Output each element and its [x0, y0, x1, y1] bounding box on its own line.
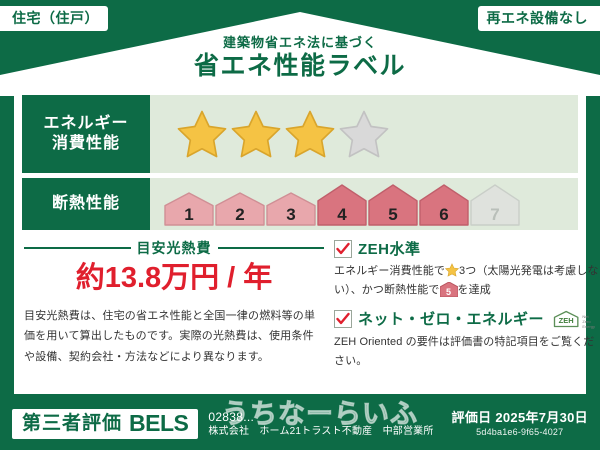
insulation-label-text: 断熱性能 — [52, 194, 120, 214]
zeh-logo: ZEH Net Zero Energy — [552, 308, 600, 330]
zeh-desc-part1: エネルギー消費性能で — [334, 265, 445, 277]
check-block-net-zero-energy: ネット・ゼロ・エネルギー ZEH Net Zero Energy ZEH Ori… — [334, 308, 600, 372]
energy-label-line2: 消費性能 — [52, 134, 120, 154]
zeh-desc-part3: を達成 — [458, 284, 491, 296]
footer-evaluation-date: 評価日 2025年7月30日 — [452, 410, 588, 427]
energy-performance-label: エネルギー 消費性能 — [22, 95, 150, 173]
page-title: 省エネ性能ラベル — [0, 54, 600, 79]
zeh-standard-description: エネルギー消費性能で3つ（太陽光発電は考慮しない）、かつ断熱性能で 5 を達成 — [334, 262, 600, 301]
energy-performance-row: エネルギー 消費性能 — [22, 88, 578, 173]
zeh-house-logo-icon: ZEH — [552, 308, 580, 330]
rule-left — [24, 247, 131, 249]
footer-document-id: 5d4ba1e6-9f65-4027 — [452, 427, 588, 439]
checkbox-net-zero-energy[interactable] — [334, 310, 352, 328]
certification-checks: ZEH水準 エネルギー消費性能で3つ（太陽光発電は考慮しない）、かつ断熱性能で … — [324, 238, 600, 378]
check-icon — [336, 242, 350, 256]
zeh-standard-header: ZEH水準 — [334, 238, 600, 259]
label-card: エネルギー 消費性能 断熱性能 1234567 目安光熱費 約13.8万円 / … — [14, 88, 586, 394]
net-zero-energy-header: ネット・ゼロ・エネルギー ZEH Net Zero Energy — [334, 308, 600, 330]
bels-jp-label: 第三者評価 — [22, 414, 122, 433]
footer-registration-number: 02838... — [208, 409, 433, 425]
star-filled-icon — [230, 109, 282, 159]
check-icon — [336, 312, 350, 326]
house-level-7: 7 — [470, 184, 520, 226]
footer-date-label: 評価日 — [452, 410, 492, 425]
star-rating — [176, 109, 390, 159]
utility-cost-heading-text: 目安光熱費 — [137, 238, 212, 258]
utility-cost-heading: 目安光熱費 — [24, 238, 324, 258]
badge-renewable-equipment: 再エネ設備なし — [478, 6, 600, 31]
house-level-6: 6 — [419, 184, 469, 226]
inline-house-badge: 5 — [440, 282, 458, 297]
zeh-logo-sub2: Zero Energy — [582, 319, 595, 329]
star-filled-icon — [176, 109, 228, 159]
house-level-number: 2 — [215, 206, 265, 223]
house-rating-scale: 1234567 — [164, 184, 520, 226]
house-level-number: 1 — [164, 206, 214, 223]
details-area: 目安光熱費 約13.8万円 / 年 目安光熱費は、住宅の省エネ性能と全国一律の燃… — [24, 238, 576, 378]
header-subtitle: 建築物省エネ法に基づく — [0, 36, 600, 49]
net-zero-energy-description: ZEH Oriented の要件は評価書の特記項目をご覧ください。 — [334, 333, 600, 372]
insulation-performance-label: 断熱性能 — [22, 178, 150, 230]
energy-label-line1: エネルギー — [43, 114, 128, 134]
utility-cost-section: 目安光熱費 約13.8万円 / 年 目安光熱費は、住宅の省エネ性能と全国一律の燃… — [24, 238, 324, 378]
star-filled-icon — [284, 109, 336, 159]
star-empty-icon — [338, 109, 390, 159]
net-zero-energy-title: ネット・ゼロ・エネルギー — [358, 308, 544, 329]
house-level-number: 7 — [470, 206, 520, 223]
zeh-standard-title: ZEH水準 — [358, 238, 421, 259]
zeh-logo-subtext: Net Zero Energy — [582, 314, 600, 330]
inline-house-level: 5 — [440, 288, 458, 297]
footer-company-name: 株式会社 ホーム21トラスト不動産 中部営業所 — [208, 425, 433, 439]
footer-date-value: 2025年7月30日 — [495, 410, 588, 425]
inline-star-icon — [445, 263, 459, 277]
house-level-4: 4 — [317, 184, 367, 226]
svg-text:ZEH: ZEH — [559, 316, 574, 325]
badge-building-type: 住宅（住戸） — [0, 6, 108, 31]
checkbox-zeh-standard[interactable] — [334, 240, 352, 258]
house-level-5: 5 — [368, 184, 418, 226]
utility-cost-value: 約13.8万円 / 年 — [24, 264, 324, 293]
house-level-number: 3 — [266, 206, 316, 223]
house-level-3: 3 — [266, 192, 316, 226]
house-level-number: 6 — [419, 206, 469, 223]
energy-performance-value — [150, 95, 578, 173]
footer-company-info: 02838... 株式会社 ホーム21トラスト不動産 中部営業所 — [198, 409, 433, 439]
footer: 第三者評価 BELS 02838... 株式会社 ホーム21トラスト不動産 中部… — [0, 398, 600, 450]
house-level-number: 5 — [368, 206, 418, 223]
insulation-performance-row: 断熱性能 1234567 — [22, 178, 578, 230]
bels-logo: 第三者評価 BELS — [12, 409, 198, 439]
house-level-1: 1 — [164, 192, 214, 226]
house-level-2: 2 — [215, 192, 265, 226]
utility-cost-note: 目安光熱費は、住宅の省エネ性能と全国一律の燃料等の単価を用いて算出したものです。… — [24, 306, 324, 367]
header: 建築物省エネ法に基づく 省エネ性能ラベル — [0, 36, 600, 79]
footer-evaluation-info: 評価日 2025年7月30日 5d4ba1e6-9f65-4027 — [452, 410, 588, 439]
insulation-performance-value: 1234567 — [150, 178, 578, 230]
house-level-number: 4 — [317, 206, 367, 223]
rule-right — [218, 247, 325, 249]
bels-en-label: BELS — [129, 412, 188, 435]
check-block-zeh-standard: ZEH水準 エネルギー消費性能で3つ（太陽光発電は考慮しない）、かつ断熱性能で … — [334, 238, 600, 301]
